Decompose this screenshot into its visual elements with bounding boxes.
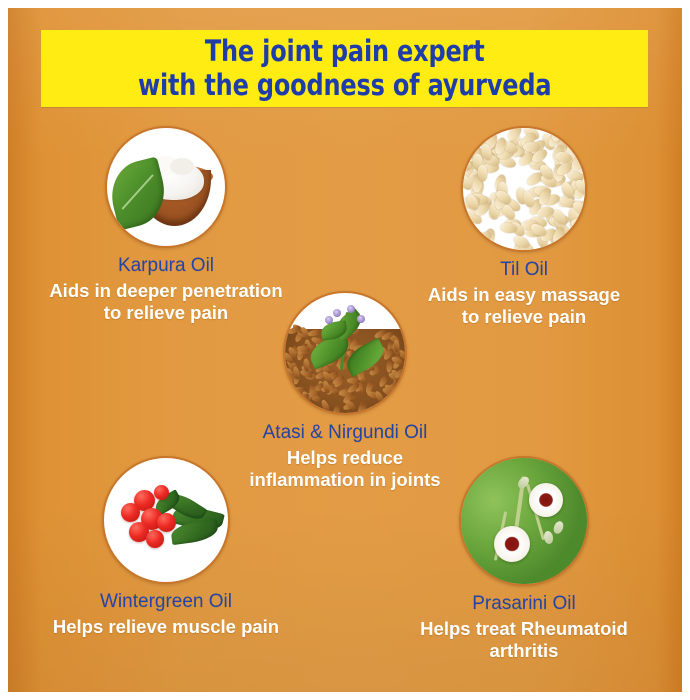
prasarini-description: Helps treat Rheumatoid arthritis (364, 618, 684, 663)
til-name: Til Oil (364, 259, 684, 282)
flax-seeds-sprig-icon (285, 293, 405, 413)
prasarini-flowers-icon (461, 458, 587, 584)
wintergreen-berries-icon (104, 458, 228, 582)
wintergreen-image-circle (102, 456, 230, 584)
sesame-seed (571, 218, 587, 228)
camphor-bowl-icon (107, 128, 225, 246)
til-image-circle (461, 126, 587, 252)
headline-banner: The joint pain expert with the goodness … (41, 30, 648, 107)
flax-seed (320, 399, 331, 413)
ingredient-infographic-poster: The joint pain expert with the goodness … (0, 0, 690, 700)
ingredient-wintergreen-oil: Wintergreen Oil Helps relieve muscle pai… (6, 456, 326, 638)
wintergreen-description: Helps relieve muscle pain (6, 616, 326, 639)
sesame-seeds-icon (463, 128, 585, 250)
flax-seed (332, 404, 342, 415)
flax-seed (307, 328, 321, 337)
ingredient-prasarini-oil: Prasarini Oil Helps treat Rheumatoid art… (364, 456, 684, 663)
flax-seed (283, 400, 289, 413)
karpura-name: Karpura Oil (6, 255, 326, 278)
headline-text: The joint pain expert with the goodness … (138, 35, 551, 101)
atasi-name: Atasi & Nirgundi Oil (185, 422, 505, 445)
karpura-image-circle (105, 126, 227, 248)
atasi-image-circle (283, 291, 407, 415)
wintergreen-name: Wintergreen Oil (6, 591, 326, 614)
prasarini-name: Prasarini Oil (364, 593, 684, 616)
sesame-seed (477, 164, 488, 182)
prasarini-image-circle (459, 456, 589, 586)
